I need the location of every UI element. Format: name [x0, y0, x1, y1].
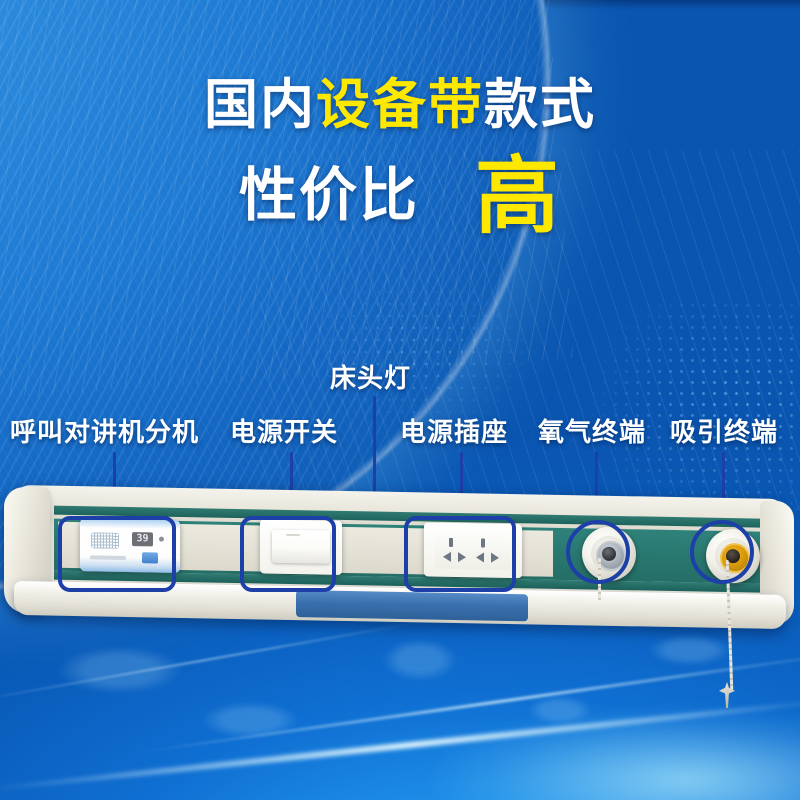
- marker-socket: [404, 516, 516, 592]
- callout-label-intercom: 呼叫对讲机分机: [10, 412, 199, 449]
- callout-label-suction-terminal: 吸引终端: [670, 412, 778, 449]
- callout-label-power-switch: 电源开关: [230, 412, 338, 449]
- poster-canvas: 国内设备带款式 性价比高 呼叫对讲机分机 电源开关 床头灯 电源插座 氧气终端 …: [0, 0, 800, 800]
- callout-label-bed-lamp: 床头灯: [330, 358, 411, 395]
- callout-label-oxygen-terminal: 氧气终端: [538, 412, 646, 449]
- marker-intercom: [58, 516, 176, 592]
- marker-suction: [690, 520, 754, 584]
- callout-label-power-socket: 电源插座: [400, 412, 508, 449]
- marker-oxygen: [566, 520, 630, 584]
- callout-layer: 呼叫对讲机分机 电源开关 床头灯 电源插座 氧气终端 吸引终端: [0, 0, 800, 800]
- marker-switch: [240, 516, 336, 592]
- panel-lip-blue-insert: [296, 590, 528, 621]
